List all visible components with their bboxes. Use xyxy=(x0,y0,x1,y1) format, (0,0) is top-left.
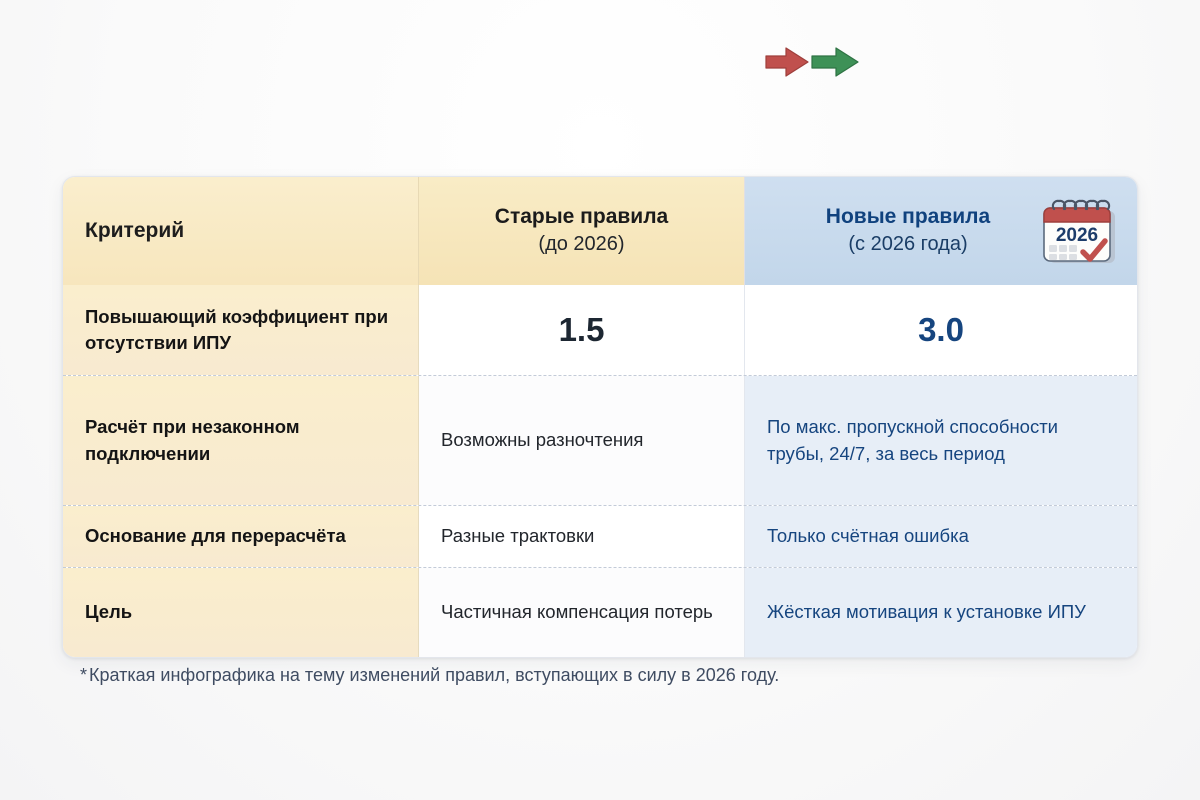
header-cell-old-rules: Старые правила (до 2026) xyxy=(419,177,745,285)
header-cell-criterion: Критерий xyxy=(63,177,419,285)
title-word-before: было xyxy=(634,36,754,87)
old-value-text: Возможны разночтения xyxy=(441,427,722,454)
header-new-subtitle: (с 2026 года) xyxy=(848,231,967,258)
row-criterion-cell: Расчёт при незаконном подключении xyxy=(63,376,419,505)
infographic-page: Сравнение правил: было стало Краткая инф… xyxy=(0,0,1200,800)
row-new-cell: По макс. пропускной способности трубы, 2… xyxy=(745,376,1137,505)
criterion-text: Повышающий коэффициент при отсутствии ИП… xyxy=(85,304,396,357)
row-criterion-cell: Основание для перерасчёта xyxy=(63,506,419,567)
arrow-new-icon xyxy=(812,48,858,76)
row-old-cell: Частичная компенсация потерь xyxy=(419,568,745,657)
row-criterion-cell: Повышающий коэффициент при отсутствии ИП… xyxy=(63,285,419,375)
row-new-cell: Только счётная ошибка xyxy=(745,506,1137,567)
footnote-text: Краткая инфографика на тему изменений пр… xyxy=(89,665,779,685)
table-row: Повышающий коэффициент при отсутствии ИП… xyxy=(63,285,1137,375)
arrow-old-icon xyxy=(766,48,808,76)
criterion-text: Основание для перерасчёта xyxy=(85,523,396,549)
page-title: Сравнение правил: было стало xyxy=(0,38,1200,85)
header-old-title: Старые правила xyxy=(495,204,668,230)
row-old-cell: 1.5 xyxy=(419,285,745,375)
comparison-table: Критерий Старые правила (до 2026) Новые … xyxy=(62,176,1138,658)
row-new-cell: Жёсткая мотивация к установке ИПУ xyxy=(745,568,1137,657)
calendar-2026-icon: 2026 xyxy=(1039,197,1123,269)
title-block: Сравнение правил: было стало Краткая инф… xyxy=(0,0,1200,147)
header-new-title: Новые правила xyxy=(826,204,990,230)
table-row: Расчёт при незаконном подключении Возмож… xyxy=(63,375,1137,505)
criterion-text: Расчёт при незаконном подключении xyxy=(85,414,396,467)
row-new-cell: 3.0 xyxy=(745,285,1137,375)
arrow-pair xyxy=(764,45,860,79)
row-criterion-cell: Цель xyxy=(63,568,419,657)
footnote-marker: * xyxy=(80,665,87,685)
calendar-year-text: 2026 xyxy=(1056,225,1098,246)
table-header-row: Критерий Старые правила (до 2026) Новые … xyxy=(63,177,1137,285)
header-criterion-label: Критерий xyxy=(85,219,396,243)
subtitle: Краткая инфографика на тему изменений пр… xyxy=(0,123,1200,147)
old-value-text: 1.5 xyxy=(559,306,605,354)
header-cell-new-rules: Новые правила (с 2026 года) xyxy=(745,177,1137,285)
old-value-text: Разные трактовки xyxy=(441,523,722,550)
new-value-text: По макс. пропускной способности трубы, 2… xyxy=(767,414,1115,468)
criterion-text: Цель xyxy=(85,599,396,625)
title-underline xyxy=(167,98,1033,100)
new-value-text: Жёсткая мотивация к установке ИПУ xyxy=(767,599,1115,626)
title-word-rules: правил: xyxy=(450,36,622,87)
old-value-text: Частичная компенсация потерь xyxy=(441,599,722,626)
footnote: *Краткая инфографика на тему изменений п… xyxy=(80,665,779,686)
title-word-after: стало xyxy=(866,36,992,87)
table-row: Цель Частичная компенсация потерь Жёстка… xyxy=(63,567,1137,657)
row-old-cell: Разные трактовки xyxy=(419,506,745,567)
table-row: Основание для перерасчёта Разные трактов… xyxy=(63,505,1137,567)
header-old-subtitle: (до 2026) xyxy=(538,231,624,258)
new-value-text: Только счётная ошибка xyxy=(767,523,1115,550)
title-word-comparison: Сравнение xyxy=(209,36,450,87)
row-old-cell: Возможны разночтения xyxy=(419,376,745,505)
new-value-text: 3.0 xyxy=(918,306,964,354)
